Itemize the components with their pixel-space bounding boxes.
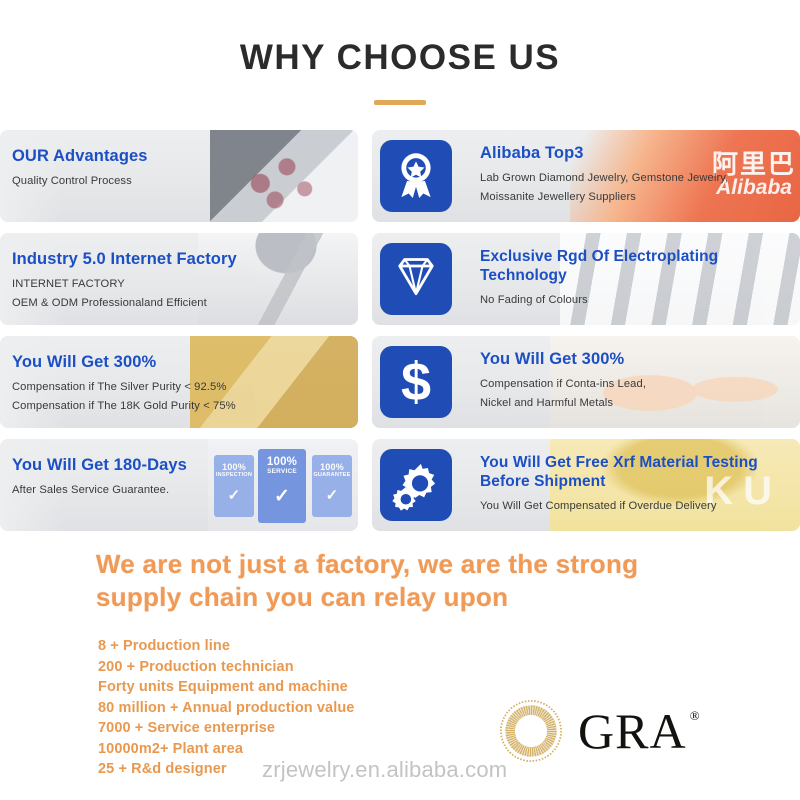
tagline-line-2: supply chain you can relay upon — [96, 581, 756, 614]
card-subtitle-line2: Nickel and Harmful Metals — [480, 396, 800, 410]
dollar-glyph: $ — [401, 356, 431, 408]
feature-card-electroplating[interactable]: Exclusive Rgd Of Electroplating Technolo… — [372, 233, 800, 325]
gears-icon — [380, 449, 452, 521]
card-subtitle-line2: OEM & ODM Professionaland Efficient — [12, 296, 262, 310]
feature-card-harmful-metals[interactable]: $ You Will Get 300% Compensation if Cont… — [372, 336, 800, 428]
card-row: OUR Advantages Quality Control Process 阿… — [0, 130, 800, 222]
stat-item: 10000m2+ Plant area — [98, 739, 354, 760]
feature-cards-grid: OUR Advantages Quality Control Process 阿… — [0, 130, 800, 542]
card-body: You Will Get 300% Compensation if Conta-… — [480, 336, 800, 428]
service-badge-guarantee: 100% GUARANTEE ✓ — [312, 455, 352, 517]
feature-card-xrf-testing[interactable]: KU You Will Get Free Xrf Material Testin… — [372, 439, 800, 531]
dollar-sign-icon: $ — [380, 346, 452, 418]
badge-percent: 100% — [312, 462, 352, 472]
feature-card-purity-compensation[interactable]: You Will Get 300% Compensation if The Si… — [0, 336, 358, 428]
card-subtitle-line1: Compensation if Conta-ins Lead, — [480, 377, 800, 391]
stat-item: Forty units Equipment and machine — [98, 677, 354, 698]
card-row: 100% INSPECTION ✓ 100% SERVICE ✓ 100% GU… — [0, 439, 800, 531]
card-subtitle-line1: Lab Grown Diamond Jewelry, Gemstone Jewe… — [480, 171, 800, 185]
stat-item: 8 + Production line — [98, 636, 354, 657]
card-subtitle-line1: Quality Control Process — [12, 174, 262, 188]
page-header: WHY CHOOSE US — [0, 0, 800, 105]
card-subtitle-line2: Compensation if The 18K Gold Purity < 75… — [12, 399, 262, 413]
card-subtitle-line1: Compensation if The Silver Purity < 92.5… — [12, 380, 262, 394]
card-title: Alibaba Top3 — [480, 144, 800, 163]
gra-wordmark: GRA ® — [578, 702, 687, 760]
card-title: You Will Get Free Xrf Material Testing B… — [480, 453, 800, 491]
site-watermark: zrjewelry.en.alibaba.com — [262, 757, 507, 783]
feature-card-180-days[interactable]: 100% INSPECTION ✓ 100% SERVICE ✓ 100% GU… — [0, 439, 358, 531]
card-subtitle-line2: Moissanite Jewellery Suppliers — [480, 190, 800, 204]
medal-ribbon-icon — [380, 140, 452, 212]
badge-percent: 100% — [258, 456, 306, 468]
card-title: You Will Get 300% — [12, 353, 262, 372]
tagline-line-1: We are not just a factory, we are the st… — [96, 548, 756, 581]
card-title: You Will Get 180-Days — [12, 456, 262, 475]
card-title: Industry 5.0 Internet Factory — [12, 250, 262, 269]
card-title: Exclusive Rgd Of Electroplating Technolo… — [480, 247, 800, 285]
check-icon: ✓ — [258, 485, 306, 508]
card-body: You Will Get 300% Compensation if The Si… — [12, 336, 262, 428]
stat-item: 80 million + Annual production value — [98, 698, 354, 719]
card-body: Exclusive Rgd Of Electroplating Technolo… — [480, 233, 800, 325]
stat-item: 7000 + Service enterprise — [98, 718, 354, 739]
check-icon: ✓ — [312, 486, 352, 504]
badge-label: SERVICE — [267, 468, 297, 475]
tagline: We are not just a factory, we are the st… — [96, 548, 756, 614]
card-subtitle-line1: INTERNET FACTORY — [12, 277, 262, 291]
page-title: WHY CHOOSE US — [0, 38, 800, 78]
diamond-icon — [380, 243, 452, 315]
feature-card-alibaba-top3[interactable]: 阿里巴 Alibaba Alibaba Top3 Lab Grown Diamo… — [372, 130, 800, 222]
service-badge-service: 100% SERVICE ✓ — [258, 449, 306, 523]
card-row: Industry 5.0 Internet Factory INTERNET F… — [0, 233, 800, 325]
card-subtitle-line1: You Will Get Compensated if Overdue Deli… — [480, 499, 800, 513]
card-body: You Will Get 180-Days After Sales Servic… — [12, 439, 262, 531]
title-accent-rule — [374, 100, 426, 105]
card-body: You Will Get Free Xrf Material Testing B… — [480, 439, 800, 531]
badge-label: GUARANTEE — [313, 472, 350, 478]
registered-trademark-icon: ® — [690, 708, 701, 724]
feature-card-industry-factory[interactable]: Industry 5.0 Internet Factory INTERNET F… — [0, 233, 358, 325]
feature-card-our-advantages[interactable]: OUR Advantages Quality Control Process — [0, 130, 358, 222]
card-title: You Will Get 300% — [480, 350, 800, 369]
gra-logo: GRA ® — [500, 700, 687, 762]
card-subtitle-line1: After Sales Service Guarantee. — [12, 483, 262, 497]
card-row: You Will Get 300% Compensation if The Si… — [0, 336, 800, 428]
card-body: OUR Advantages Quality Control Process — [12, 130, 262, 222]
stat-item: 200 + Production technician — [98, 657, 354, 678]
card-title: OUR Advantages — [12, 147, 262, 166]
gra-seal-icon — [500, 700, 562, 762]
card-subtitle-line1: No Fading of Colours — [480, 293, 800, 307]
card-body: Industry 5.0 Internet Factory INTERNET F… — [12, 233, 262, 325]
card-body: Alibaba Top3 Lab Grown Diamond Jewelry, … — [480, 130, 800, 222]
